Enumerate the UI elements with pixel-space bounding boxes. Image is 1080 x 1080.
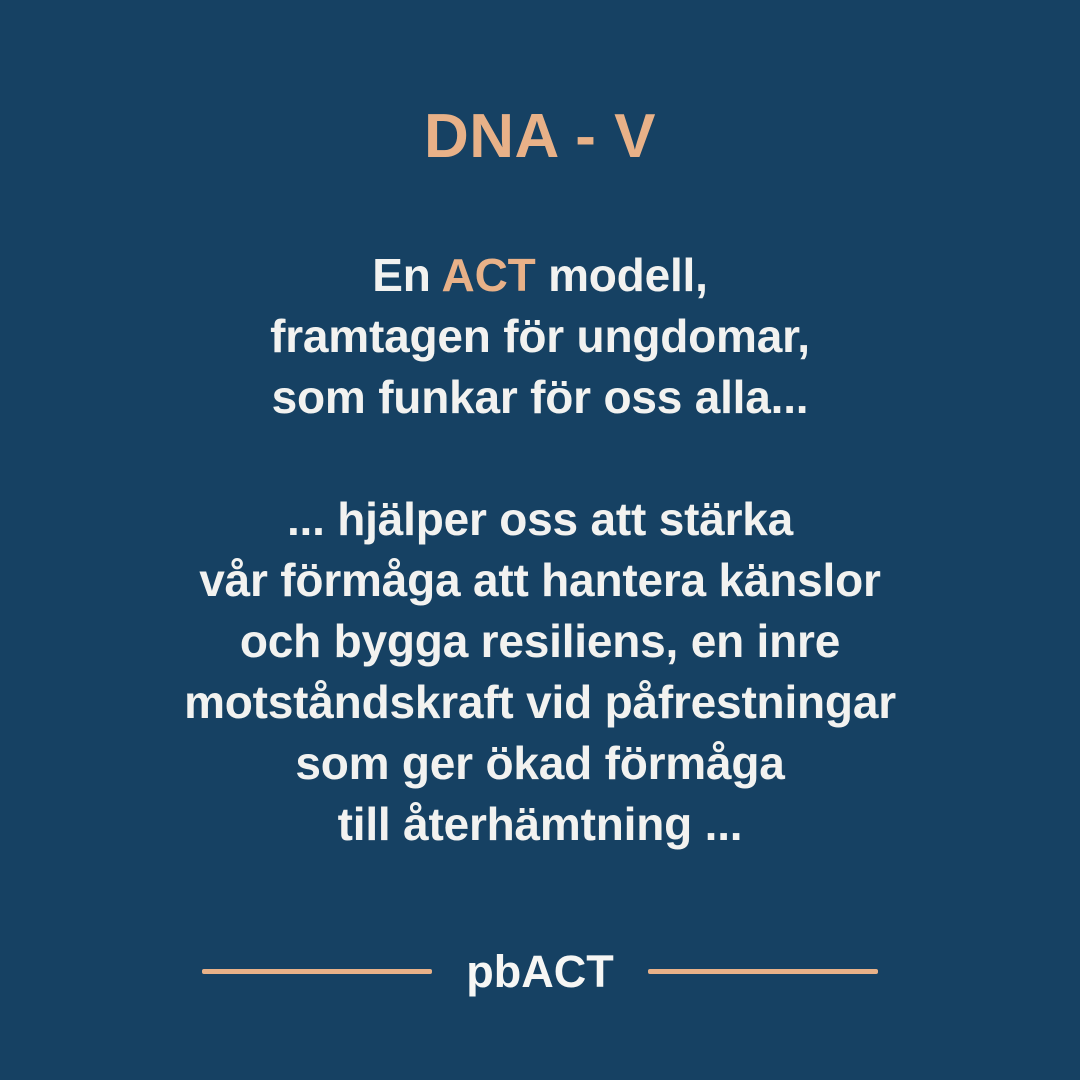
text-span: och bygga resiliens, en inre xyxy=(240,615,840,667)
text-span: ... hjälper oss att stärka xyxy=(287,493,793,545)
paragraph: En ACT modell,framtagen för ungdomar,som… xyxy=(80,245,1000,428)
footer: pbACT xyxy=(0,940,1080,1002)
text-span: till återhämtning ... xyxy=(338,798,743,850)
text-line: som ger ökad förmåga xyxy=(80,733,1000,794)
footer-rule-left-icon xyxy=(202,969,432,974)
text-span: framtagen för ungdomar, xyxy=(270,310,810,362)
text-span: som funkar för oss alla... xyxy=(272,371,809,423)
text-span: som ger ökad förmåga xyxy=(295,737,784,789)
text-line: och bygga resiliens, en inre xyxy=(80,611,1000,672)
text-line: vår förmåga att hantera känslor xyxy=(80,550,1000,611)
text-line: motståndskraft vid påfrestningar xyxy=(80,672,1000,733)
paragraph-gap xyxy=(80,428,1000,489)
accent-word: ACT xyxy=(442,249,536,301)
brand-label: pbACT xyxy=(466,949,613,994)
text-line: En ACT modell, xyxy=(80,245,1000,306)
text-span: vår förmåga att hantera känslor xyxy=(199,554,881,606)
text-span: motståndskraft vid påfrestningar xyxy=(184,676,896,728)
slide-card: DNA - V En ACT modell,framtagen för ungd… xyxy=(0,0,1080,1080)
text-line: till återhämtning ... xyxy=(80,794,1000,855)
page-title: DNA - V xyxy=(424,103,656,171)
body-copy: En ACT modell,framtagen för ungdomar,som… xyxy=(80,245,1000,855)
text-span: modell, xyxy=(536,249,708,301)
text-line: framtagen för ungdomar, xyxy=(80,306,1000,367)
text-span: En xyxy=(372,249,441,301)
text-line: som funkar för oss alla... xyxy=(80,367,1000,428)
paragraph: ... hjälper oss att stärkavår förmåga at… xyxy=(80,489,1000,855)
text-line: ... hjälper oss att stärka xyxy=(80,489,1000,550)
footer-rule-right-icon xyxy=(648,969,878,974)
